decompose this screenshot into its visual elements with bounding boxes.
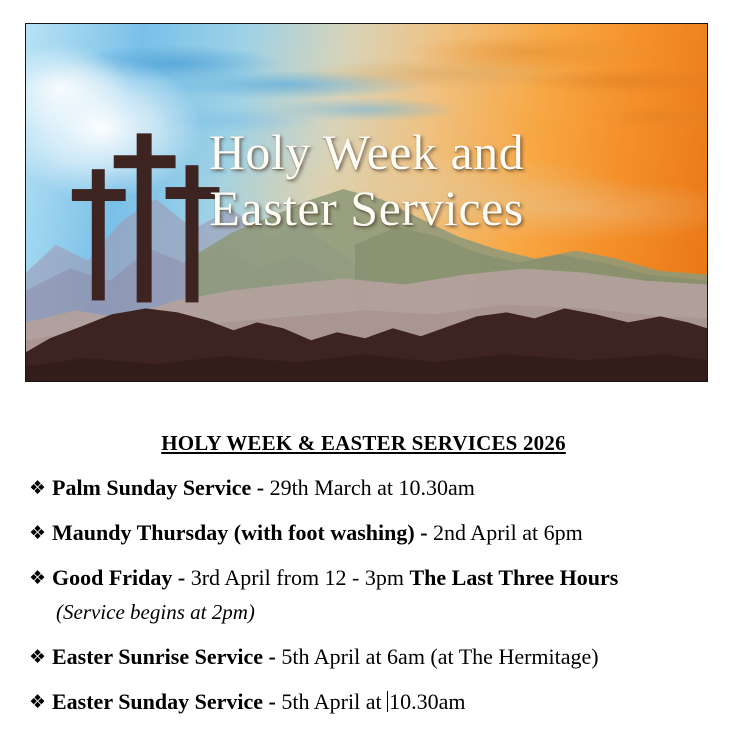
- service-name: Palm Sunday Service: [52, 475, 251, 500]
- holy-week-banner-image[interactable]: Holy Week andEaster Services: [25, 23, 708, 382]
- service-details: 3rd April from 12 - 3pm: [191, 565, 410, 590]
- service-emphasis: The Last Three Hours: [410, 565, 619, 590]
- service-separator: -: [263, 689, 281, 714]
- list-item[interactable]: ❖Maundy Thursday (with foot washing) - 2…: [0, 520, 733, 546]
- diamond-bullet-icon: ❖: [29, 475, 46, 501]
- services-list: ❖Palm Sunday Service - 29th March at 10.…: [0, 475, 733, 715]
- spellcheck-underline-icon: [56, 623, 69, 628]
- service-details: 5th April at: [281, 689, 387, 714]
- diamond-bullet-icon: ❖: [29, 520, 46, 546]
- diamond-bullet-icon: ❖: [29, 644, 46, 670]
- service-details: 5th April at 6am (at The Hermitage): [281, 644, 598, 669]
- service-name: Maundy Thursday (with foot washing): [52, 520, 415, 545]
- service-details: 29th March at 10.30am: [270, 475, 475, 500]
- service-note[interactable]: (Service begins at 2pm): [0, 599, 733, 625]
- service-separator: -: [263, 644, 281, 669]
- service-details-after-cursor: 10.30am: [389, 689, 465, 714]
- page-title: HOLY WEEK & EASTER SERVICES 2026: [0, 420, 733, 456]
- diamond-bullet-icon: ❖: [29, 689, 46, 715]
- list-item[interactable]: ❖Palm Sunday Service - 29th March at 10.…: [0, 475, 733, 501]
- list-item[interactable]: ❖Easter Sunday Service - 5th April at 10…: [0, 689, 733, 715]
- list-item[interactable]: ❖Good Friday - 3rd April from 12 - 3pm T…: [0, 565, 733, 591]
- document-body[interactable]: HOLY WEEK & EASTER SERVICES 2026 ❖Palm S…: [0, 420, 733, 715]
- service-name: Easter Sunrise Service: [52, 644, 263, 669]
- diamond-bullet-icon: ❖: [29, 565, 46, 591]
- service-separator: -: [415, 520, 433, 545]
- service-name: Good Friday: [52, 565, 172, 590]
- service-separator: -: [251, 475, 269, 500]
- service-details: 2nd April at 6pm: [433, 520, 583, 545]
- text-cursor: [387, 691, 388, 712]
- list-item[interactable]: ❖Easter Sunrise Service - 5th April at 6…: [0, 644, 733, 670]
- banner-crosses-hill-icon: [26, 24, 707, 381]
- service-name: Easter Sunday Service: [52, 689, 263, 714]
- service-note-text: (Service begins at 2pm): [56, 600, 255, 624]
- service-separator: -: [172, 565, 190, 590]
